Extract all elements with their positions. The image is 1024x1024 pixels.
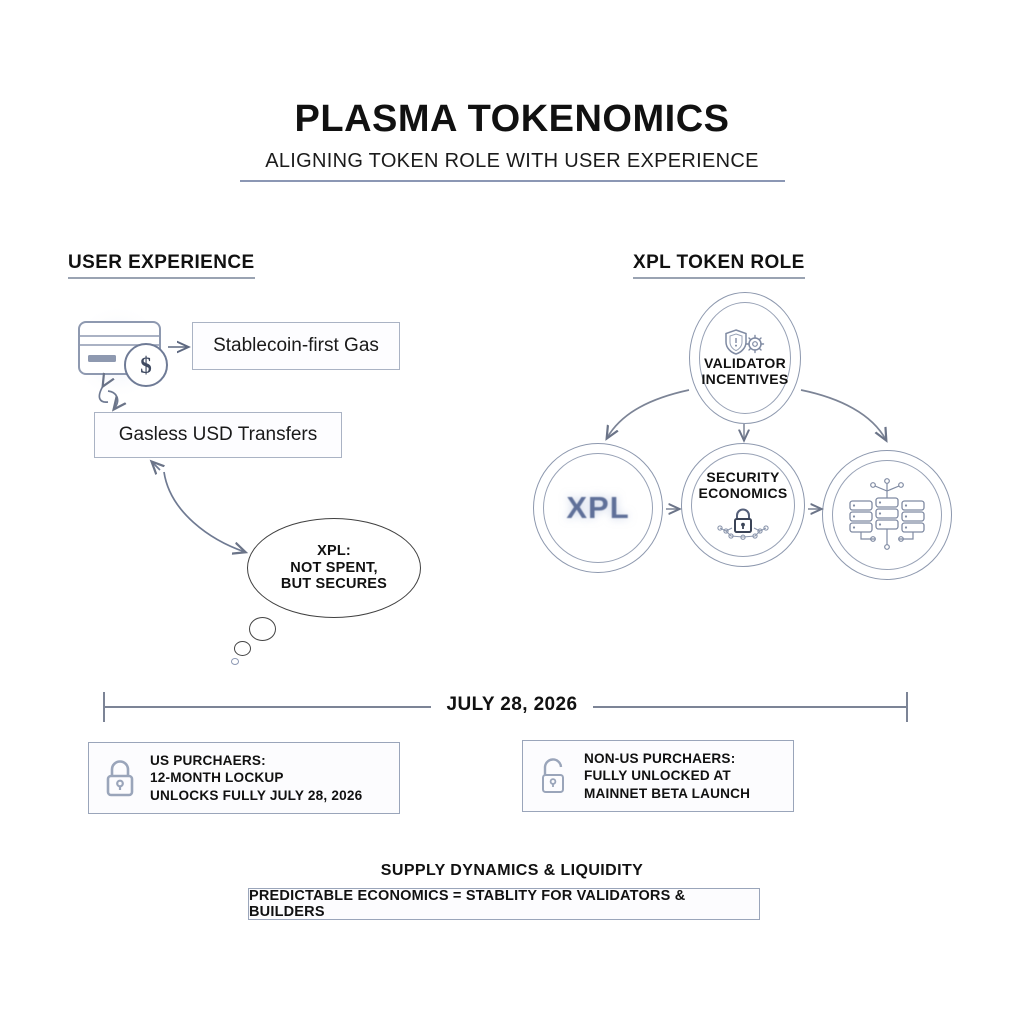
node-label-validator: VALIDATOR INCENTIVES [701,356,788,388]
page-title: PLASMA TOKENOMICS [0,98,1024,141]
bubble-line-2: NOT SPENT, [290,560,377,576]
card-us-purchasers[interactable]: US PURCHAERS: 12-MONTH LOCKUP UNLOCKS FU… [88,742,400,814]
node-validator-incentives[interactable]: VALIDATOR INCENTIVES [689,292,801,424]
card-line-1: US PURCHAERS: [150,752,362,769]
section-heading-xpl-token-role: XPL TOKEN ROLE [633,252,805,279]
lock-network-icon [714,506,772,540]
card-icon-glow [70,304,166,400]
section-heading-label: USER EXPERIENCE [68,252,255,279]
bubble-line-1: XPL: [317,543,351,559]
card-text-non-us: NON-US PURCHAERS: FULLY UNLOCKED AT MAIN… [584,750,750,801]
node-inner-ring: VALIDATOR INCENTIVES [699,302,791,414]
node-inner-ring: SECURITY ECONOMICS [691,453,795,557]
thought-bubble-xpl: XPL: NOT SPENT, BUT SECURES [247,518,421,618]
server-network-icon [842,473,932,557]
page-subtitle: ALIGNING TOKEN ROLE WITH USER EXPERIENCE [0,150,1024,173]
card-line-1: NON-US PURCHAERS: [584,750,750,767]
arrow-validator-to-xpl [607,390,689,438]
shield-gear-icon [722,328,768,356]
thought-bubble-dot-large [249,617,276,641]
node-inner-ring [832,460,942,570]
credit-card-dollar-icon: $ [79,322,167,386]
arrow-transfers-to-bubble [152,462,245,552]
timeline-date-label: JULY 28, 2026 [431,694,594,715]
section-heading-user-experience: USER EXPERIENCE [68,252,255,279]
card-non-us-purchasers[interactable]: NON-US PURCHAERS: FULLY UNLOCKED AT MAIN… [522,740,794,812]
bubble-line-3: BUT SECURES [281,576,387,592]
padlock-open-icon [537,755,571,797]
node-xpl-token[interactable]: XPL [533,443,663,573]
footer-heading: SUPPLY DYNAMICS & LIQUIDITY [0,862,1024,880]
arrow-validator-to-infra [801,390,886,440]
box-stablecoin-first-gas[interactable]: Stablecoin-first Gas [192,322,400,370]
box-gasless-usd-transfers[interactable]: Gasless USD Transfers [94,412,342,458]
node-label-xpl: XPL [566,490,629,526]
box-label: Gasless USD Transfers [119,424,318,446]
card-line-2: 12-MONTH LOCKUP [150,769,362,786]
section-heading-label: XPL TOKEN ROLE [633,252,805,279]
box-label: Stablecoin-first Gas [213,335,379,357]
footer-statement-label: PREDICTABLE ECONOMICS = STABLITY FOR VAL… [249,888,759,920]
card-line-2: FULLY UNLOCKED AT [584,767,750,784]
arrow-card-to-transfers [99,386,117,409]
node-security-economics[interactable]: SECURITY ECONOMICS [681,443,805,567]
title-divider [240,180,785,182]
card-line-3: UNLOCKS FULLY JULY 28, 2026 [150,787,362,804]
footer-statement-box: PREDICTABLE ECONOMICS = STABLITY FOR VAL… [248,888,760,920]
padlock-closed-icon [103,757,137,799]
card-line-3: MAINNET BETA LAUNCH [584,785,750,802]
infographic-canvas: PLASMA TOKENOMICS ALIGNING TOKEN ROLE WI… [0,0,1024,1024]
svg-text:$: $ [140,353,152,378]
card-text-us: US PURCHAERS: 12-MONTH LOCKUP UNLOCKS FU… [150,752,362,803]
timeline-date: JULY 28, 2026 [0,694,1024,716]
node-label-security: SECURITY ECONOMICS [698,470,787,502]
thought-bubble-dot-medium [234,641,251,656]
thought-bubble-dot-small [231,658,239,665]
node-network-infrastructure[interactable] [822,450,952,580]
node-inner-ring: XPL [543,453,653,563]
